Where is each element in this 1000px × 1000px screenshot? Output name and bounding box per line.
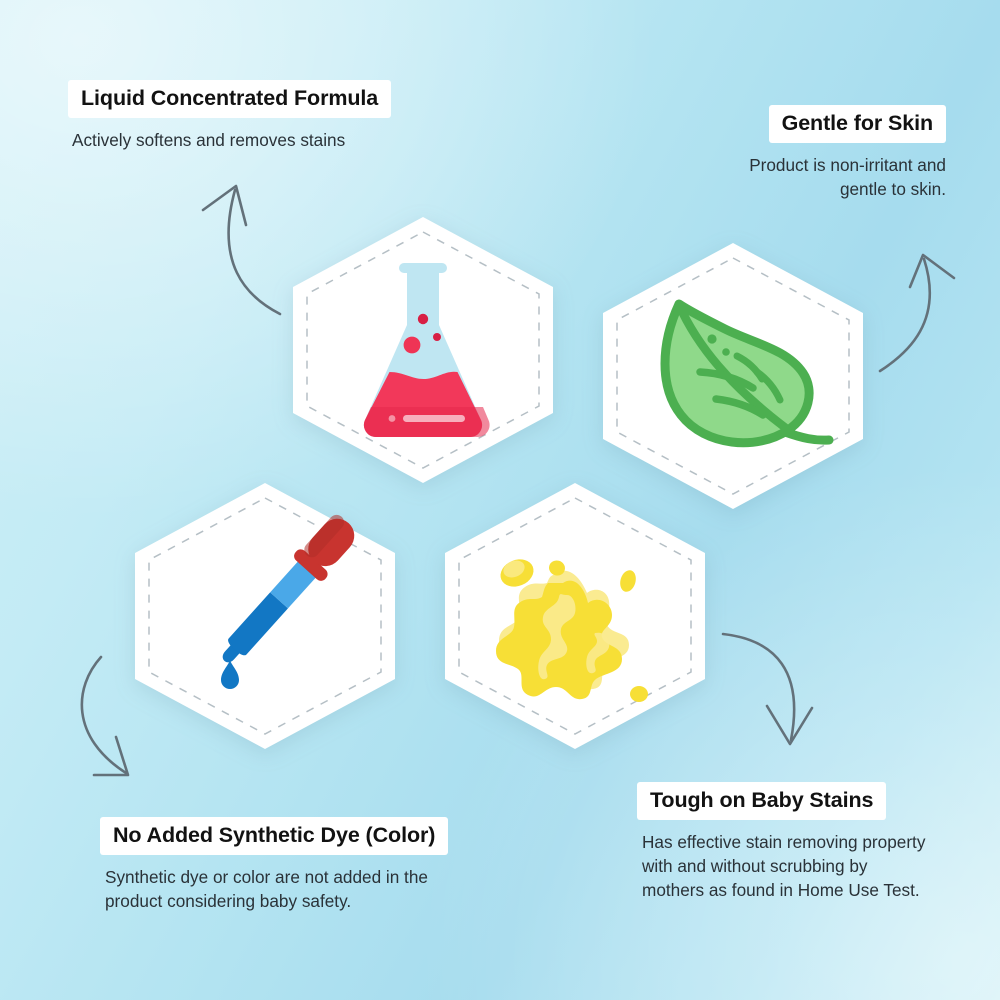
- feature-label-liquid-concentrated-formula: Liquid Concentrated Formula Actively sof…: [68, 80, 391, 153]
- arrow-to-dye: [68, 645, 198, 785]
- feature-hexagon-flask[interactable]: [293, 217, 553, 483]
- feature-description: Actively softens and removes stains: [72, 129, 391, 153]
- arrow-to-formula: [190, 168, 320, 318]
- infographic-canvas: Liquid Concentrated Formula Actively sof…: [0, 0, 1000, 1000]
- feature-description: Product is non-irritant and gentle to sk…: [620, 154, 946, 201]
- feature-description: Synthetic dye or color are not added in …: [105, 866, 480, 913]
- hexagon-shape: [445, 483, 705, 749]
- feature-description: Has effective stain removing property wi…: [642, 831, 972, 902]
- feature-label-tough-on-baby-stains: Tough on Baby Stains Has effective stain…: [637, 782, 972, 902]
- hexagon-shape: [293, 217, 553, 483]
- feature-hexagon-leaf[interactable]: [603, 243, 863, 509]
- arrow-to-tough: [718, 618, 848, 758]
- feature-heading: Liquid Concentrated Formula: [68, 80, 391, 118]
- feature-hexagon-splash[interactable]: [445, 483, 705, 749]
- feature-label-no-added-synthetic-dye: No Added Synthetic Dye (Color) Synthetic…: [100, 817, 480, 914]
- feature-heading: No Added Synthetic Dye (Color): [100, 817, 448, 855]
- feature-heading: Tough on Baby Stains: [637, 782, 886, 820]
- arrow-to-gentle: [872, 245, 992, 375]
- hexagon-shape: [603, 243, 863, 509]
- feature-label-gentle-for-skin: Gentle for Skin Product is non-irritant …: [620, 105, 946, 202]
- feature-heading: Gentle for Skin: [769, 105, 946, 143]
